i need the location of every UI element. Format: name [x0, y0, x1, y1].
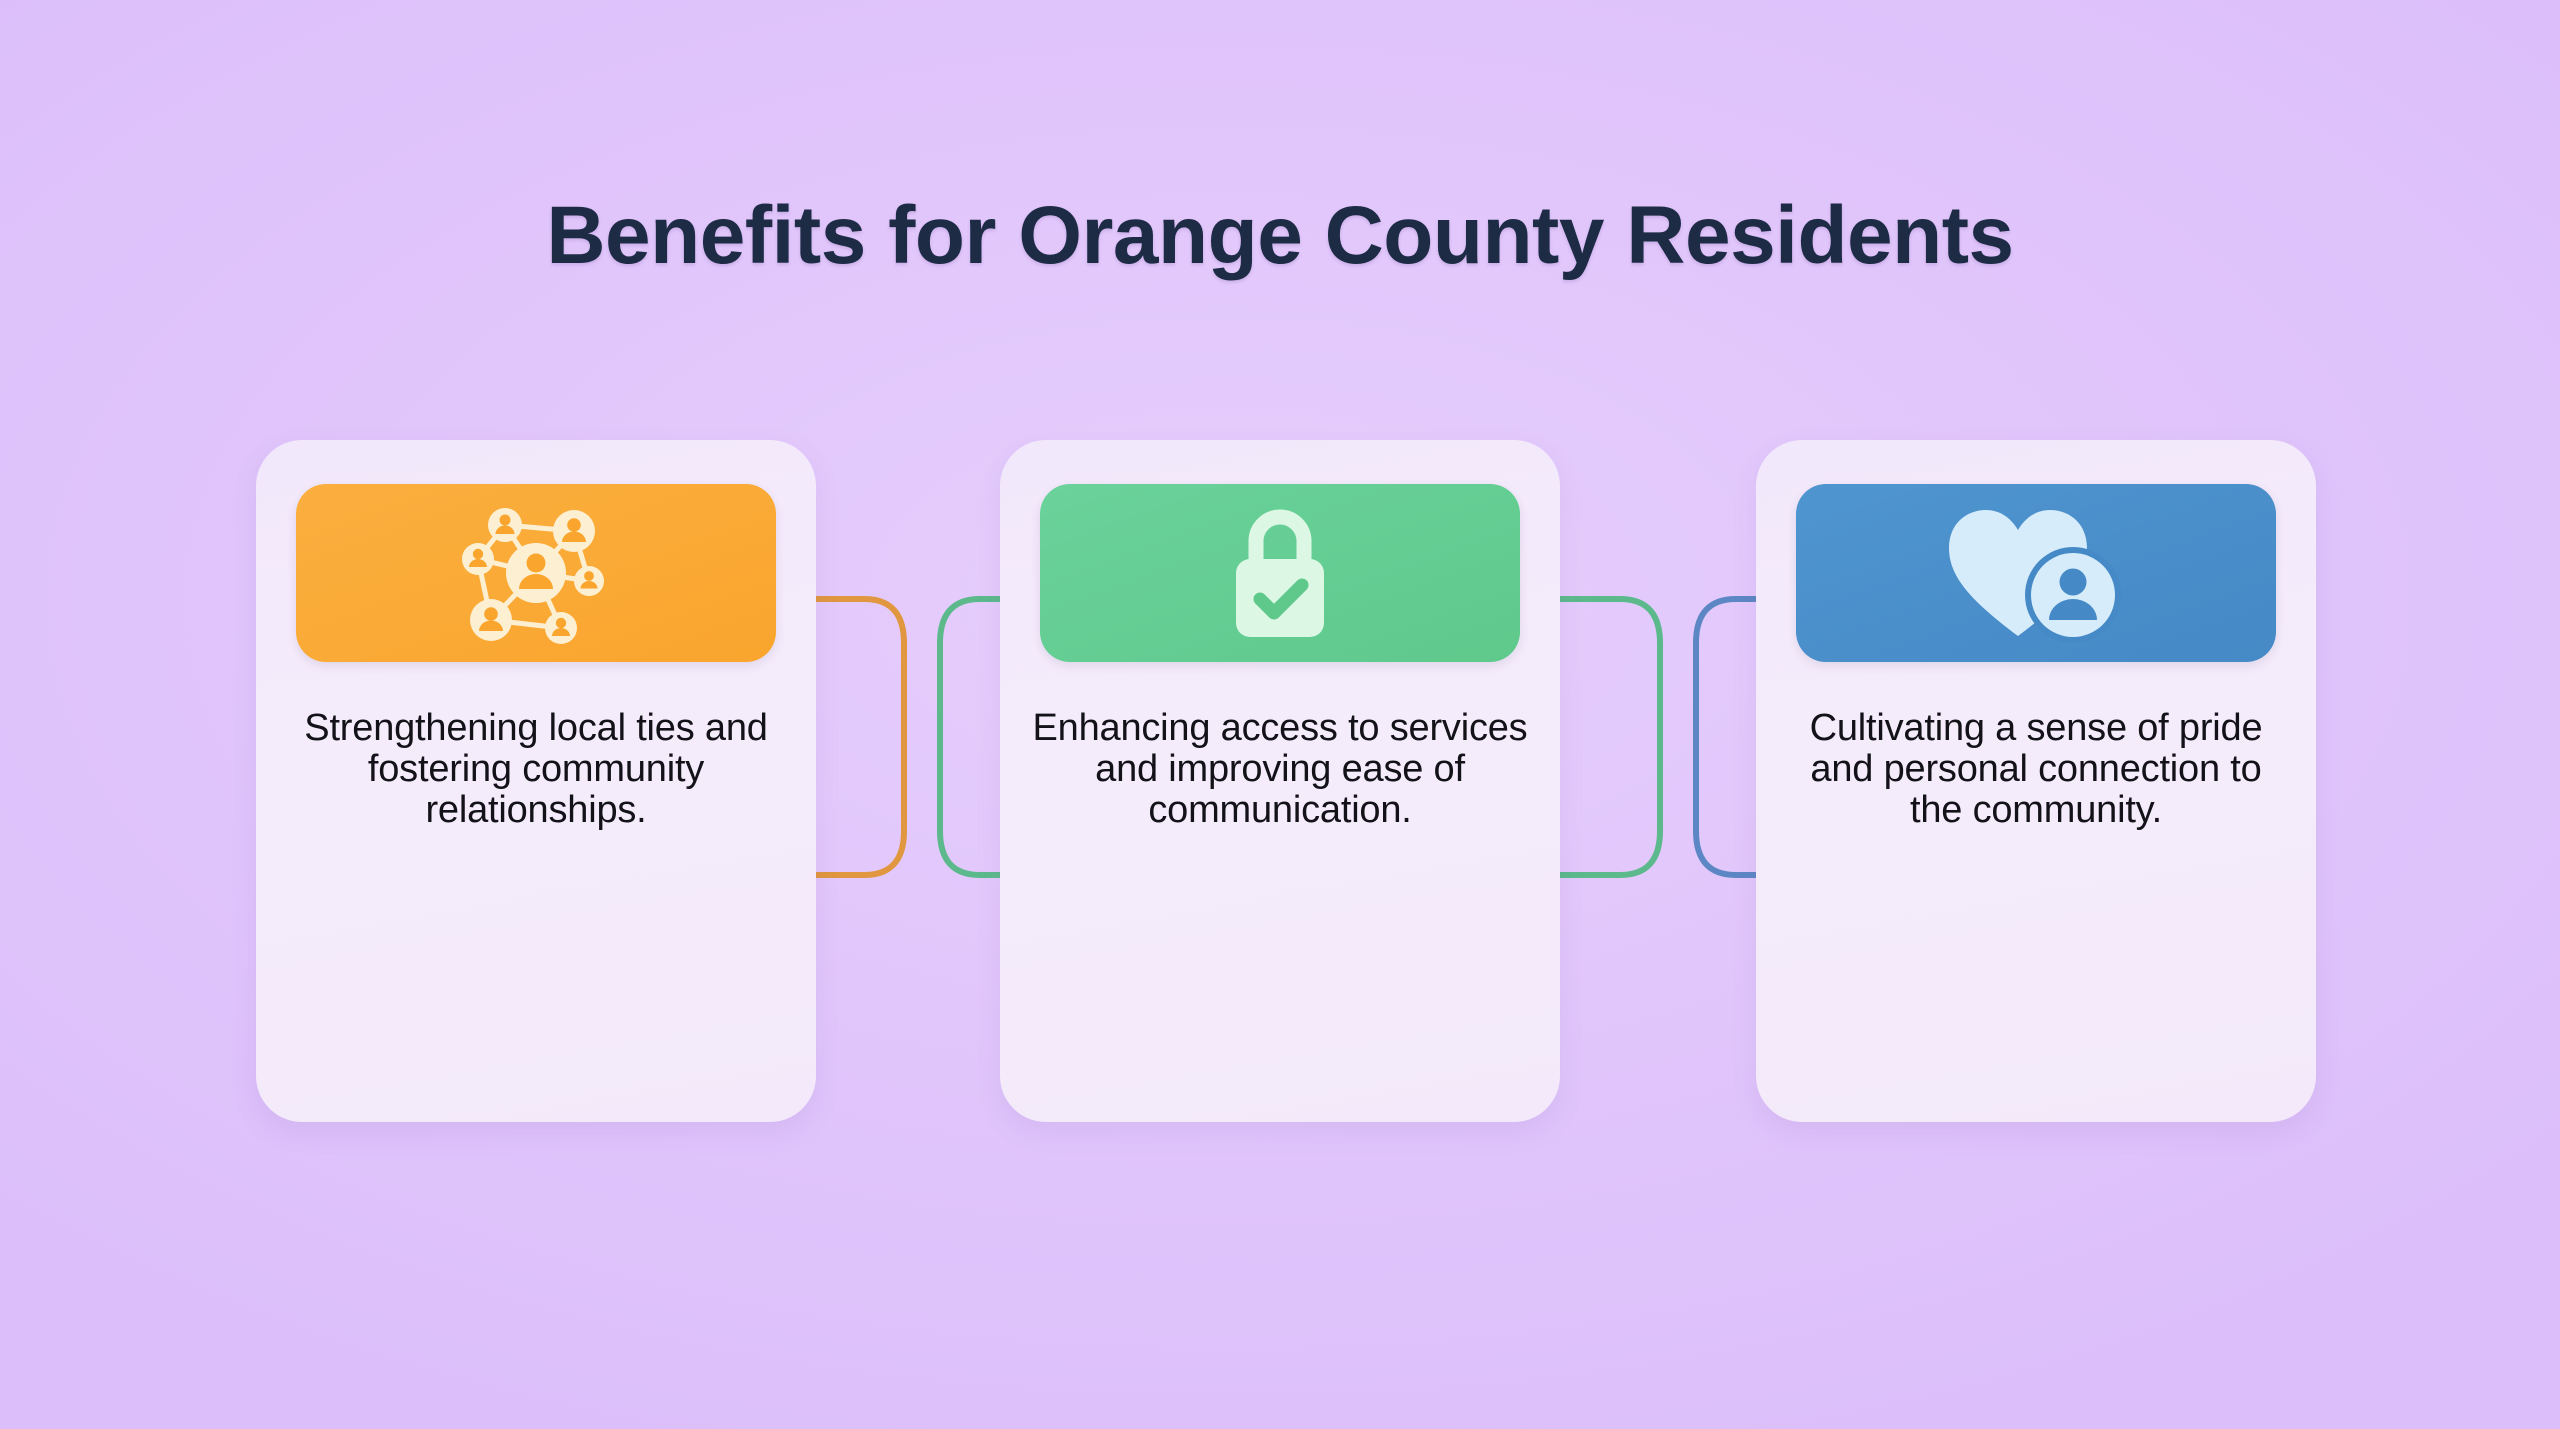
- benefit-card-3[interactable]: Cultivating a sense of pride and persona…: [1756, 440, 2316, 1122]
- benefit-cards-row: Strengthening local ties and fostering c…: [0, 440, 2560, 1130]
- benefit-card-3-text: Cultivating a sense of pride and persona…: [1786, 708, 2286, 831]
- community-network-icon: [461, 501, 611, 645]
- icon-panel-2: [1040, 484, 1520, 662]
- icon-panel-1: [296, 484, 776, 662]
- heart-person-icon: [1943, 502, 2129, 644]
- page-title: Benefits for Orange County Residents: [0, 193, 2560, 279]
- benefit-card-1-text: Strengthening local ties and fostering c…: [286, 708, 786, 831]
- slide-canvas: Benefits for Orange County Residents: [0, 0, 2560, 1429]
- icon-panel-3: [1796, 484, 2276, 662]
- benefit-card-1[interactable]: Strengthening local ties and fostering c…: [256, 440, 816, 1122]
- lock-check-icon: [1222, 501, 1338, 645]
- benefit-card-2-text: Enhancing access to services and improvi…: [1030, 708, 1530, 831]
- benefit-card-2[interactable]: Enhancing access to services and improvi…: [1000, 440, 1560, 1122]
